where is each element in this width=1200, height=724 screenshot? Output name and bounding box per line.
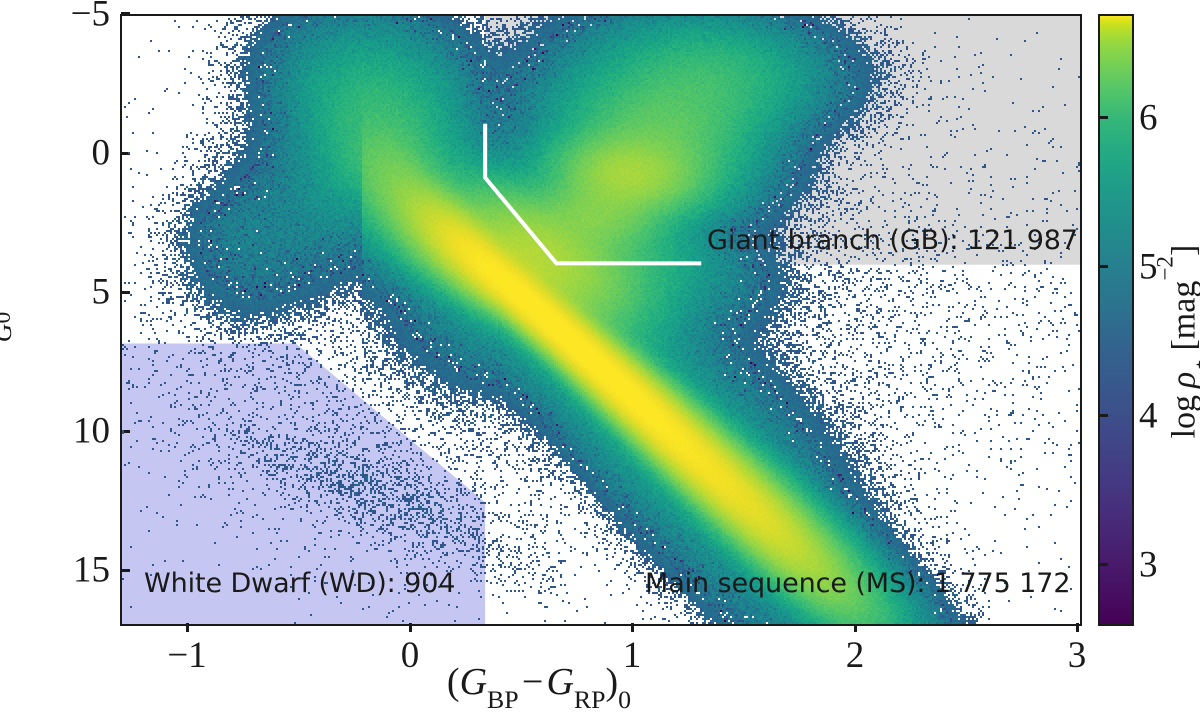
ytick-label-3: 10 [0,410,110,453]
cbtick-mark-1 [1099,414,1108,417]
xtick-mark-0 [186,623,189,632]
color-magnitude-diagram-figure: Giant branch (GB): 121 987 White Dwarf (… [0,0,1200,724]
ytick-label-4: 15 [0,549,110,592]
giant-branch-label: Giant branch (GB): 121 987 [707,225,1078,256]
y-axis-title: MG0 [0,312,13,374]
ytick-label-2: 5 [0,271,110,314]
x-axis-title: (GBP − GRP)0 [0,660,1078,710]
white-dwarf-label: White Dwarf (WD): 904 [144,568,455,599]
x-axis-title-text: (GBP − GRP)0 [447,661,631,703]
cbtick-mark-2 [1099,265,1108,268]
ytick-label-0: −5 [0,0,110,36]
colorbar-title-text: log ρ⋆ [mag−2] [1166,245,1200,439]
colorbar-gradient [1100,16,1132,624]
xtick-mark-1 [409,623,412,632]
cbtick-label-0: 3 [1139,544,1158,587]
main-sequence-label: Main sequence (MS): 1 775 172 [645,568,1070,599]
ytick-label-1: 0 [0,132,110,175]
xtick-mark-4 [1076,623,1079,632]
cbtick-mark-3 [1099,116,1108,119]
plot-area: Giant branch (GB): 121 987 White Dwarf (… [120,14,1082,626]
ytick-mark-0 [121,12,130,15]
cbtick-label-1: 4 [1139,395,1158,438]
cbtick-label-3: 6 [1139,97,1158,140]
colorbar-title: log ρ⋆ [mag−2] [1162,245,1200,439]
xtick-mark-3 [854,623,857,632]
divider-overlay [122,16,1080,624]
cbtick-mark-0 [1099,563,1108,566]
y-axis-title-text: MG0 [0,312,6,374]
ms-gb-divider-line [485,124,701,264]
colorbar [1098,14,1134,626]
xtick-mark-2 [631,623,634,632]
